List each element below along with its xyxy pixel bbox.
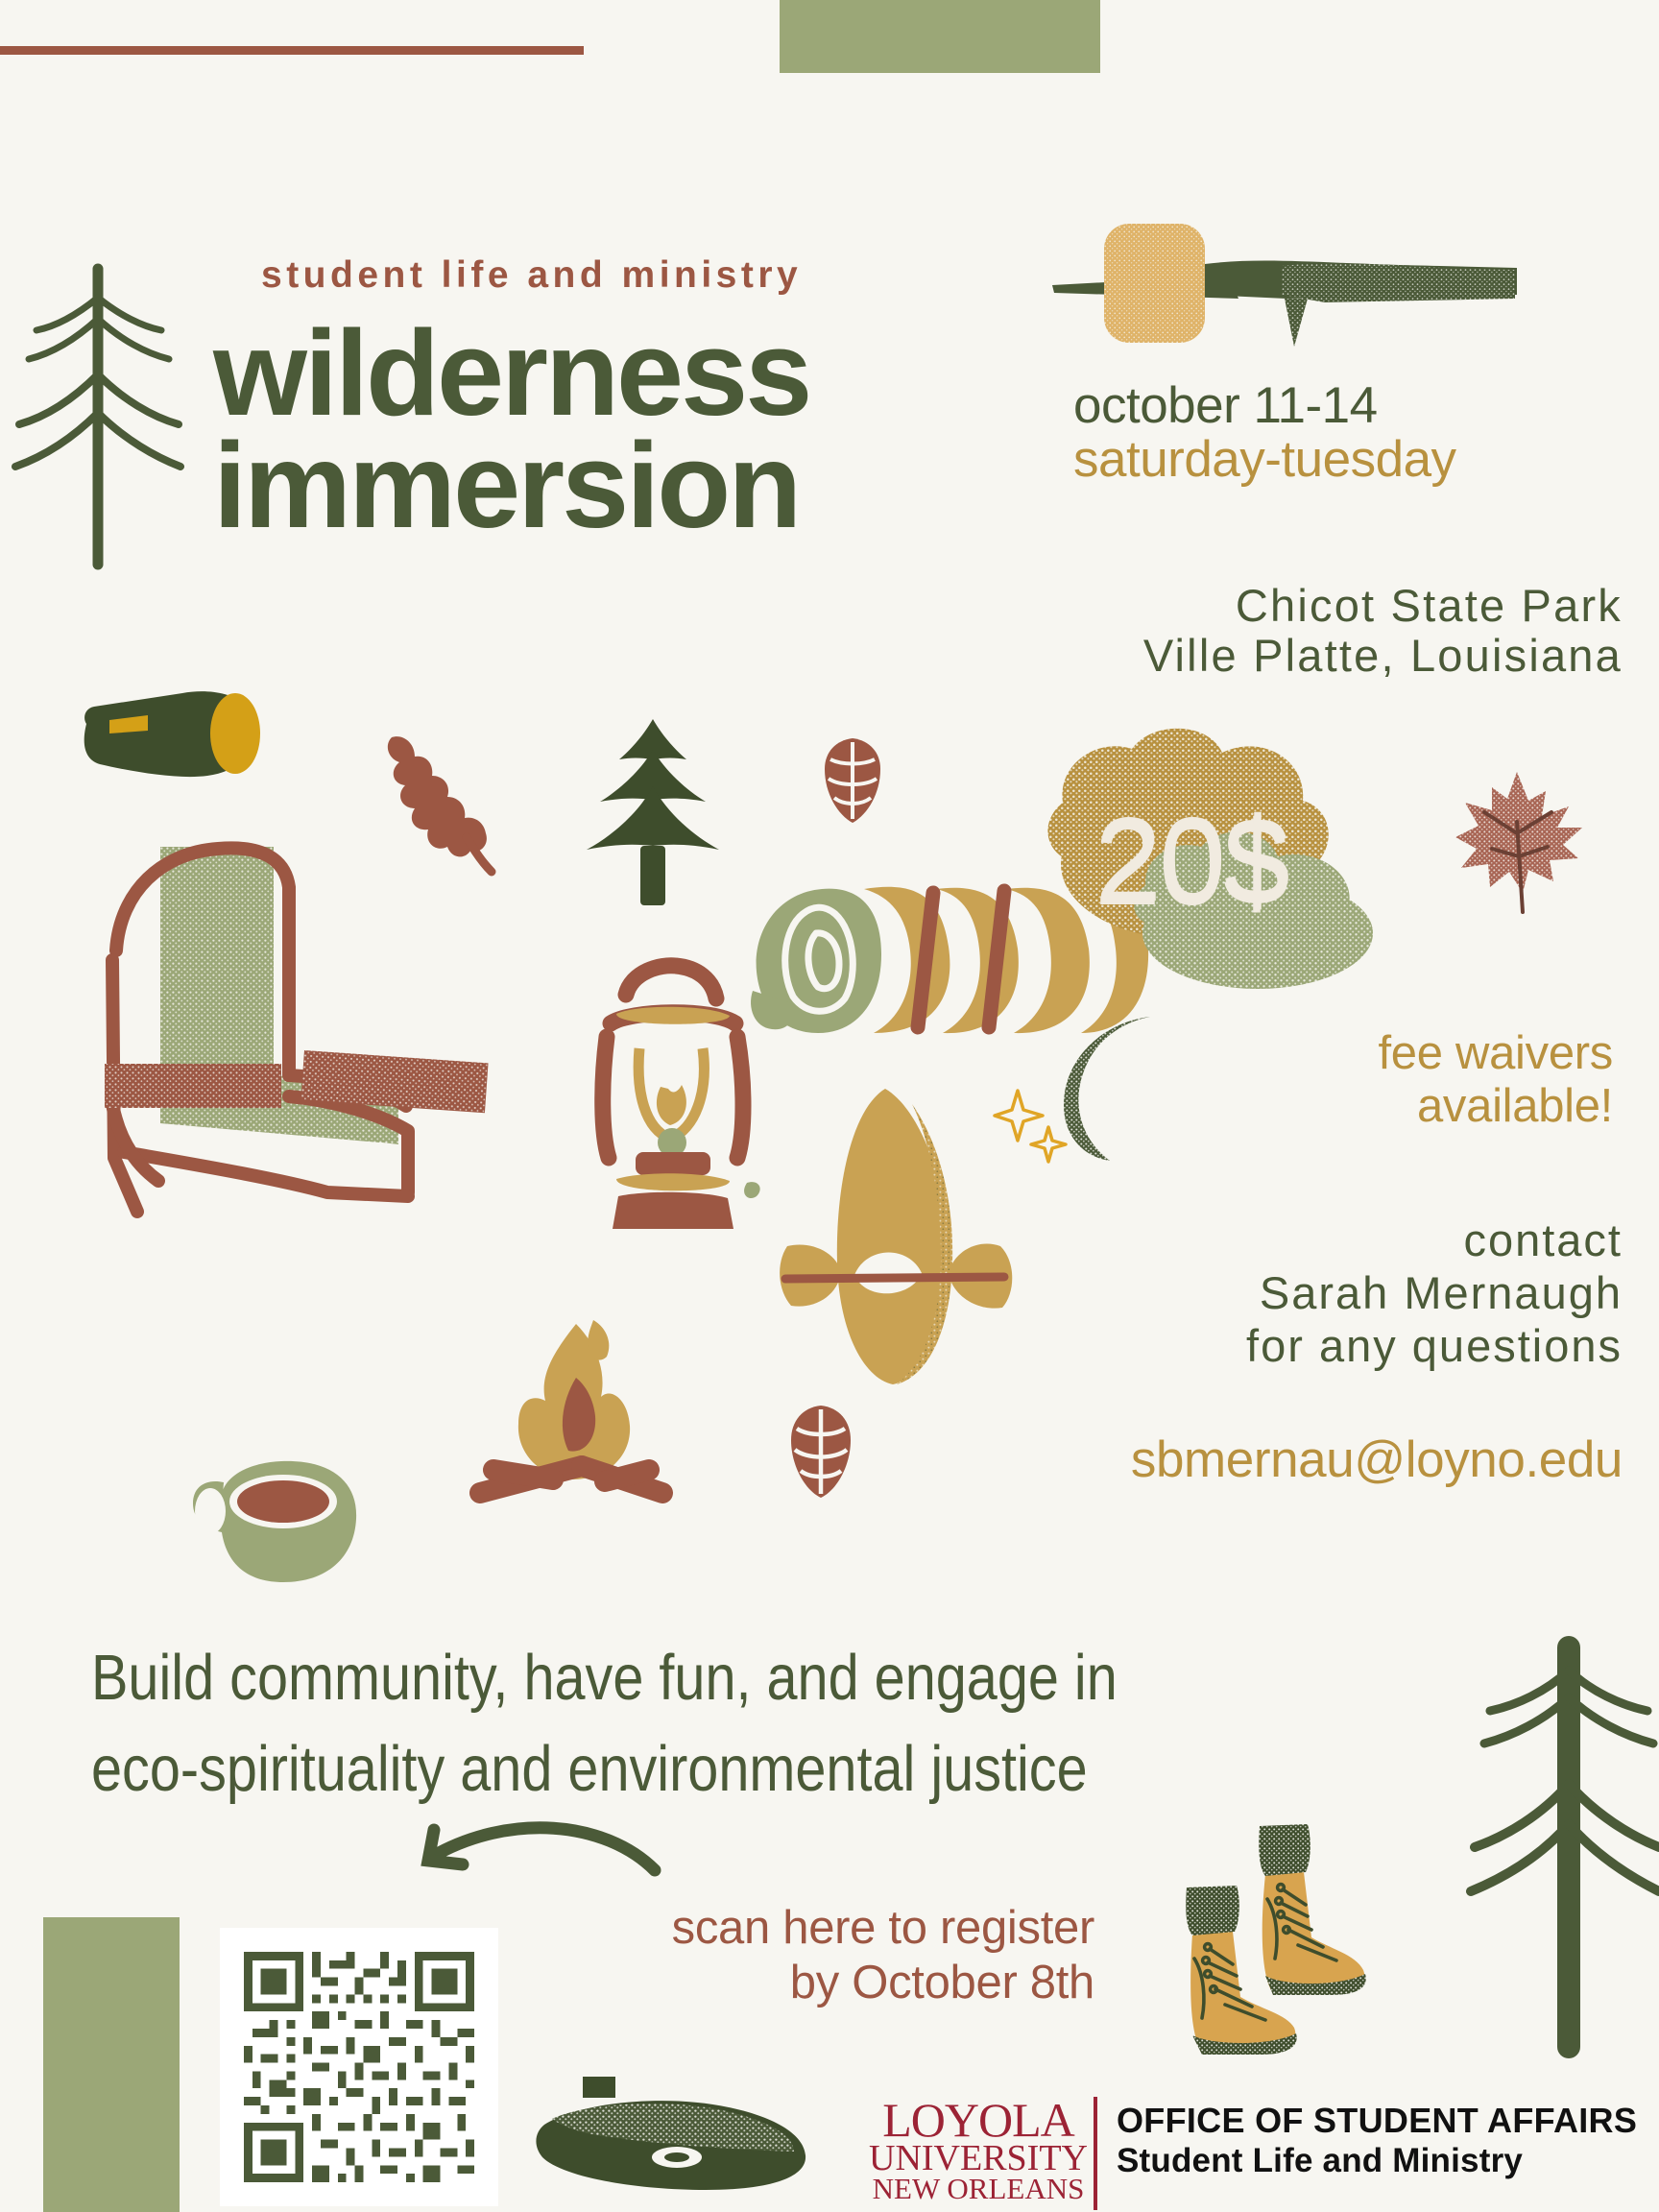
logo-line-1: LOYOLA bbox=[869, 2098, 1088, 2142]
tagline-line-2: eco-spirituality and environmental justi… bbox=[91, 1723, 1118, 1815]
top-right-green-block bbox=[780, 0, 1100, 73]
register-line-2: by October 8th bbox=[672, 1956, 1094, 2010]
logo-line-2: UNIVERSITY bbox=[869, 2142, 1088, 2176]
fee-waiver-line-1: fee waivers bbox=[1378, 1027, 1613, 1080]
contact-line-1: contact bbox=[1246, 1214, 1623, 1267]
event-date-block: october 11-14 saturday-tuesday bbox=[1073, 379, 1456, 487]
register-line-1: scan here to register bbox=[672, 1901, 1094, 1956]
office-line-2: Student Life and Ministry bbox=[1117, 2141, 1637, 2180]
campfire-icon bbox=[461, 1320, 682, 1531]
title-line-2: immersion bbox=[213, 429, 809, 541]
page-title: wilderness immersion bbox=[213, 317, 809, 541]
price-label: 20$ bbox=[1094, 805, 1287, 924]
location-line-2: Ville Platte, Louisiana bbox=[1143, 631, 1623, 681]
contact-line-3: for any questions bbox=[1246, 1320, 1623, 1373]
office-block: OFFICE OF STUDENT AFFAIRS Student Life a… bbox=[1117, 2101, 1637, 2181]
arrow-icon bbox=[413, 1811, 662, 1897]
flashlight-icon bbox=[79, 684, 271, 789]
top-rule-divider bbox=[0, 46, 584, 55]
contact-email[interactable]: sbmernau@loyno.edu bbox=[1131, 1431, 1623, 1489]
kayak-icon bbox=[778, 1075, 1104, 1392]
logo-divider bbox=[1094, 2097, 1097, 2210]
event-location-block: Chicot State Park Ville Platte, Louisian… bbox=[1143, 581, 1623, 680]
hiking-boots-icon bbox=[1177, 1809, 1503, 2097]
pine-tree-tall-icon bbox=[1469, 1640, 1659, 2053]
log-icon bbox=[533, 2069, 811, 2194]
kicker-text: student life and ministry bbox=[261, 256, 802, 294]
event-date: october 11-14 bbox=[1073, 379, 1456, 433]
event-days: saturday-tuesday bbox=[1073, 433, 1456, 487]
contact-line-2: Sarah Mernaugh bbox=[1246, 1267, 1623, 1320]
pinecone-icon bbox=[811, 734, 894, 827]
register-instructions: scan here to register by October 8th bbox=[672, 1901, 1094, 2010]
qr-code[interactable] bbox=[220, 1928, 498, 2206]
contact-block: contact Sarah Mernaugh for any questions bbox=[1246, 1214, 1623, 1373]
fee-waiver-line-2: available! bbox=[1378, 1080, 1613, 1133]
camp-chair-icon bbox=[91, 835, 494, 1219]
maple-leaf-icon bbox=[1450, 768, 1584, 922]
loyola-logo: LOYOLA UNIVERSITY NEW ORLEANS bbox=[869, 2098, 1088, 2202]
tagline-line-1: Build community, have fun, and engage in bbox=[91, 1632, 1118, 1723]
logo-line-3: NEW ORLEANS bbox=[869, 2176, 1088, 2203]
marshmallow-stick-icon bbox=[1037, 206, 1623, 360]
tagline-block: Build community, have fun, and engage in… bbox=[91, 1632, 1118, 1815]
office-line-1: OFFICE OF STUDENT AFFAIRS bbox=[1117, 2101, 1637, 2141]
fee-waiver-block: fee waivers available! bbox=[1378, 1027, 1613, 1134]
mug-icon bbox=[187, 1450, 379, 1594]
poster-canvas: student life and ministry wilderness imm… bbox=[0, 0, 1659, 2212]
fir-tree-icon bbox=[571, 715, 734, 936]
pinecone-icon bbox=[778, 1402, 864, 1503]
pine-tree-sketch-icon bbox=[10, 259, 182, 566]
location-line-1: Chicot State Park bbox=[1143, 581, 1623, 631]
title-line-1: wilderness bbox=[213, 317, 809, 429]
bottom-left-green-block bbox=[43, 1917, 180, 2212]
